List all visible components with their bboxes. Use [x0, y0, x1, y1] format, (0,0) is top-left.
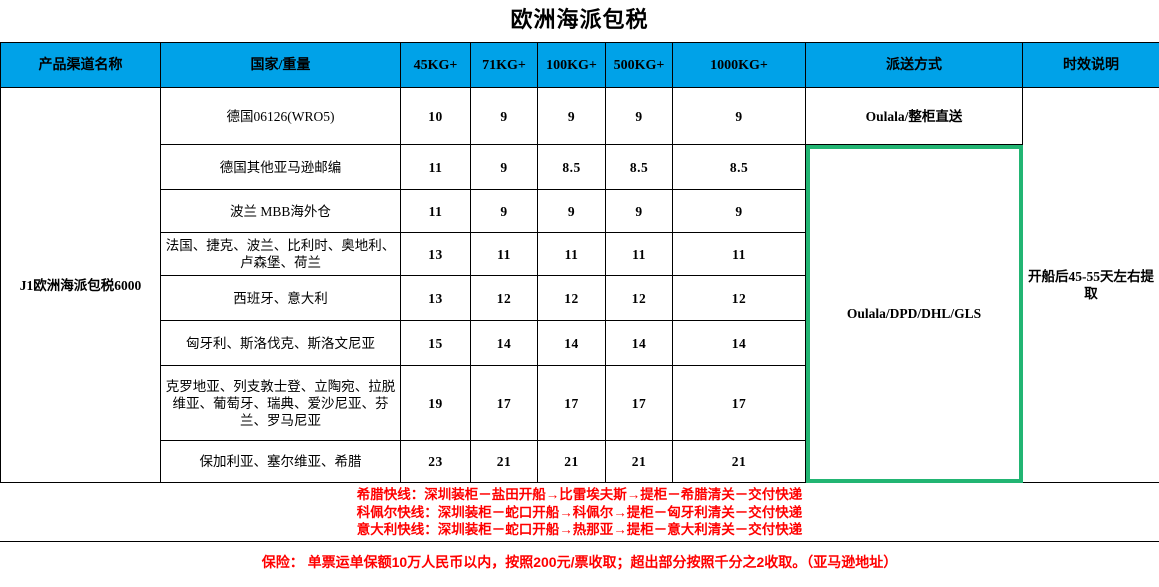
price-1000kg: 12	[673, 276, 806, 321]
price-100kg: 12	[538, 276, 606, 321]
price-100kg: 9	[538, 190, 606, 233]
price-100kg: 8.5	[538, 145, 606, 190]
footer-divider	[0, 541, 1159, 542]
column-header-eta: 时效说明	[1023, 43, 1159, 88]
route-note-koper: 科佩尔快线：深圳装柜－蛇口开船→科佩尔→提柜－匈牙利清关－交付快递	[0, 504, 1159, 522]
column-header-100kg: 100KG+	[538, 43, 606, 88]
price-100kg: 21	[538, 441, 606, 483]
price-1000kg: 8.5	[673, 145, 806, 190]
country-cell: 匈牙利、斯洛伐克、斯洛文尼亚	[161, 321, 401, 366]
price-45kg: 19	[401, 366, 471, 441]
price-71kg: 17	[471, 366, 538, 441]
price-500kg: 14	[606, 321, 673, 366]
price-45kg: 23	[401, 441, 471, 483]
price-71kg: 12	[471, 276, 538, 321]
price-500kg: 12	[606, 276, 673, 321]
country-cell: 德国其他亚马逊邮编	[161, 145, 401, 190]
country-cell: 克罗地亚、列支敦士登、立陶宛、拉脱维亚、葡萄牙、瑞典、爱沙尼亚、芬兰、罗马尼亚	[161, 366, 401, 441]
price-500kg: 9	[606, 88, 673, 145]
rate-table: 产品渠道名称 国家/重量 45KG+ 71KG+ 100KG+ 500KG+ 1…	[0, 42, 1159, 483]
price-100kg: 11	[538, 233, 606, 276]
eta-cell: 开船后45-55天左右提取	[1023, 88, 1159, 483]
price-500kg: 9	[606, 190, 673, 233]
table-row: J1欧洲海派包税6000 德国06126(WRO5) 10 9 9 9 9 Ou…	[1, 88, 1159, 145]
price-45kg: 11	[401, 145, 471, 190]
country-cell: 波兰 MBB海外仓	[161, 190, 401, 233]
price-71kg: 9	[471, 88, 538, 145]
price-100kg: 14	[538, 321, 606, 366]
country-cell: 保加利亚、塞尔维亚、希腊	[161, 441, 401, 483]
price-45kg: 13	[401, 276, 471, 321]
channel-name-cell: J1欧洲海派包税6000	[1, 88, 161, 483]
column-header-45kg: 45KG+	[401, 43, 471, 88]
price-1000kg: 9	[673, 190, 806, 233]
country-cell: 法国、捷克、波兰、比利时、奥地利、卢森堡、荷兰	[161, 233, 401, 276]
route-note-greece: 希腊快线：深圳装柜－盐田开船→比雷埃夫斯→提柜－希腊清关－交付快递	[0, 486, 1159, 504]
price-500kg: 11	[606, 233, 673, 276]
price-100kg: 9	[538, 88, 606, 145]
page-title: 欧洲海派包税	[0, 2, 1159, 38]
price-45kg: 11	[401, 190, 471, 233]
insurance-note: 保险： 单票运单保额10万人民币以内，按照200元/票收取；超出部分按照千分之2…	[0, 552, 1159, 572]
price-1000kg: 11	[673, 233, 806, 276]
country-cell: 西班牙、意大利	[161, 276, 401, 321]
price-100kg: 17	[538, 366, 606, 441]
price-500kg: 8.5	[606, 145, 673, 190]
column-header-500kg: 500KG+	[606, 43, 673, 88]
price-71kg: 9	[471, 145, 538, 190]
price-71kg: 9	[471, 190, 538, 233]
price-500kg: 17	[606, 366, 673, 441]
column-header-71kg: 71KG+	[471, 43, 538, 88]
route-notes: 希腊快线：深圳装柜－盐田开船→比雷埃夫斯→提柜－希腊清关－交付快递 科佩尔快线：…	[0, 486, 1159, 539]
price-1000kg: 9	[673, 88, 806, 145]
column-header-channel: 产品渠道名称	[1, 43, 161, 88]
price-45kg: 13	[401, 233, 471, 276]
column-header-delivery-method: 派送方式	[806, 43, 1023, 88]
price-500kg: 21	[606, 441, 673, 483]
column-header-country-weight: 国家/重量	[161, 43, 401, 88]
column-header-1000kg: 1000KG+	[673, 43, 806, 88]
table-header-row: 产品渠道名称 国家/重量 45KG+ 71KG+ 100KG+ 500KG+ 1…	[1, 43, 1159, 88]
country-cell: 德国06126(WRO5)	[161, 88, 401, 145]
rate-sheet-page: 欧洲海派包税 产品渠道名称 国家/重量 45KG+ 71KG+ 100KG+ 5…	[0, 0, 1159, 587]
route-note-italy: 意大利快线：深圳装柜－蛇口开船→热那亚→提柜－意大利清关－交付快递	[0, 521, 1159, 539]
price-45kg: 15	[401, 321, 471, 366]
price-1000kg: 21	[673, 441, 806, 483]
price-1000kg: 17	[673, 366, 806, 441]
price-71kg: 21	[471, 441, 538, 483]
delivery-method-cell-rest[interactable]: Oulala/DPD/DHL/GLS	[806, 145, 1023, 483]
price-71kg: 14	[471, 321, 538, 366]
price-45kg: 10	[401, 88, 471, 145]
table-row: 德国其他亚马逊邮编 11 9 8.5 8.5 8.5 Oulala/DPD/DH…	[1, 145, 1159, 190]
delivery-method-cell-first[interactable]: Oulala/整柜直送	[806, 88, 1023, 145]
price-1000kg: 14	[673, 321, 806, 366]
price-71kg: 11	[471, 233, 538, 276]
